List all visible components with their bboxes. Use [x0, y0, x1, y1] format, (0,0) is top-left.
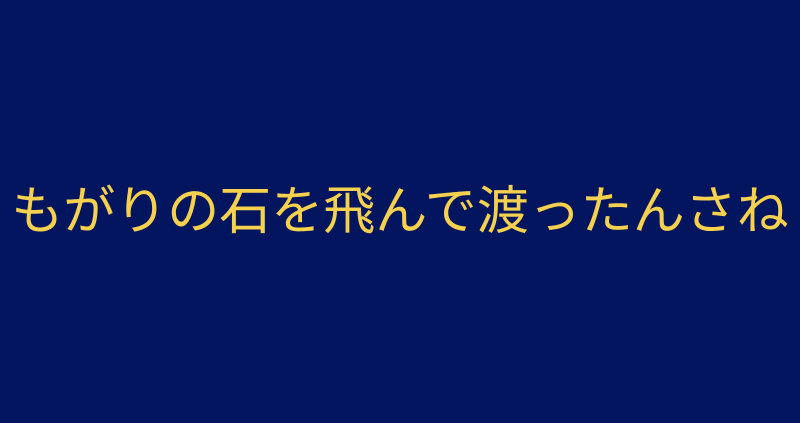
subtitle-text: もがりの石を飛んで渡ったんさね — [0, 187, 800, 239]
subtitle-card: もがりの石を飛んで渡ったんさね — [0, 0, 800, 423]
